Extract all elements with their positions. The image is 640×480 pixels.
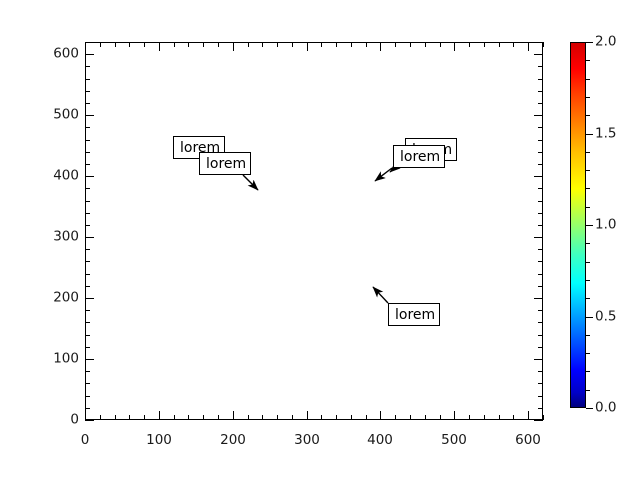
y-axis-tick (538, 383, 543, 384)
colorbar-minor-tick (586, 371, 590, 372)
colorbar-tick (586, 134, 593, 135)
x-axis-tick (159, 42, 160, 51)
y-axis-tick (85, 371, 90, 372)
y-axis-tick (538, 42, 543, 43)
y-axis-tick (85, 249, 90, 250)
y-axis-tick (85, 79, 90, 80)
y-axis-tick (538, 322, 543, 323)
x-axis-tick (188, 42, 189, 47)
x-axis-tick (366, 415, 367, 420)
y-axis-tick (85, 152, 90, 153)
colorbar-minor-tick (586, 79, 590, 80)
y-axis-tick (538, 408, 543, 409)
x-axis-tick (262, 415, 263, 420)
y-tick-label-0: 0 (37, 413, 79, 427)
x-axis-tick (233, 42, 234, 51)
y-axis-tick (85, 103, 90, 104)
x-axis-tick (528, 411, 529, 420)
y-axis-tick (85, 408, 90, 409)
y-axis-tick (538, 164, 543, 165)
x-axis-tick (115, 415, 116, 420)
x-axis-tick (203, 42, 204, 47)
y-axis-tick (538, 140, 543, 141)
x-axis-tick (174, 42, 175, 47)
y-axis-tick (538, 347, 543, 348)
x-tick-label-100: 100 (146, 434, 172, 448)
y-axis-tick (534, 298, 543, 299)
y-axis-tick (538, 261, 543, 262)
colorbar-tick (586, 317, 593, 318)
colorbar-tick-label-2.0: 2.0 (595, 35, 616, 49)
x-axis-tick (543, 415, 544, 420)
colorbar-tick-label-1.0: 1.0 (595, 218, 616, 232)
x-axis-tick (174, 415, 175, 420)
colorbar-minor-tick (586, 60, 590, 61)
y-axis-tick (538, 103, 543, 104)
y-axis-tick (85, 322, 90, 323)
y-axis-tick (85, 115, 94, 116)
y-axis-tick (85, 213, 90, 214)
colorbar-minor-tick (586, 243, 590, 244)
x-axis-tick (425, 415, 426, 420)
x-axis-tick (218, 415, 219, 420)
x-axis-tick (484, 42, 485, 47)
x-axis-tick (336, 42, 337, 47)
x-axis-tick (499, 415, 500, 420)
x-axis-tick (292, 415, 293, 420)
x-axis-tick (248, 42, 249, 47)
y-axis-tick (85, 310, 90, 311)
y-axis-tick (85, 347, 90, 348)
colorbar: 0.00.51.01.52.0 (570, 42, 586, 408)
x-axis-tick (395, 42, 396, 47)
colorbar-tick (586, 42, 593, 43)
x-axis-tick (307, 42, 308, 51)
x-axis-tick (321, 415, 322, 420)
x-axis-tick (351, 415, 352, 420)
y-axis-tick (85, 298, 94, 299)
colorbar-minor-tick (586, 188, 590, 189)
y-axis-tick (538, 79, 543, 80)
y-tick-label-100: 100 (37, 352, 79, 366)
x-tick-label-400: 400 (367, 434, 393, 448)
y-tick-label-200: 200 (37, 291, 79, 305)
y-tick-label-400: 400 (37, 169, 79, 183)
y-axis-tick (85, 164, 90, 165)
y-tick-label-600: 600 (37, 47, 79, 61)
y-axis-tick (538, 371, 543, 372)
y-axis-tick (534, 237, 543, 238)
x-axis-tick (144, 415, 145, 420)
y-axis-tick (538, 396, 543, 397)
x-axis-tick (528, 42, 529, 51)
x-axis-tick (454, 42, 455, 51)
x-tick-label-0: 0 (81, 434, 90, 448)
y-axis-tick (85, 237, 94, 238)
x-axis-tick (410, 42, 411, 47)
colorbar-minor-tick (586, 353, 590, 354)
annotation-label-left-front[interactable]: lorem (199, 152, 251, 175)
colorbar-minor-tick (586, 298, 590, 299)
colorbar-tick (586, 408, 593, 409)
y-axis-tick (85, 420, 94, 421)
y-axis-tick (85, 286, 90, 287)
colorbar-minor-tick (586, 335, 590, 336)
x-axis-tick (499, 42, 500, 47)
x-axis-tick (380, 411, 381, 420)
x-axis-tick (100, 415, 101, 420)
x-axis-tick (159, 411, 160, 420)
colorbar-minor-tick (586, 170, 590, 171)
y-tick-label-500: 500 (37, 108, 79, 122)
colorbar-tick (586, 225, 593, 226)
y-axis-tick (538, 127, 543, 128)
x-axis-tick (129, 42, 130, 47)
x-axis-tick (513, 415, 514, 420)
axes-frame (85, 42, 543, 420)
x-axis-tick (292, 42, 293, 47)
annotation-label-right-front[interactable]: lorem (393, 145, 445, 168)
y-axis-tick (538, 213, 543, 214)
y-axis-tick (85, 383, 90, 384)
colorbar-gradient (570, 42, 586, 408)
x-tick-label-500: 500 (441, 434, 467, 448)
x-axis-tick (440, 42, 441, 47)
y-axis-tick (538, 152, 543, 153)
y-axis-tick (538, 91, 543, 92)
y-axis-tick (538, 310, 543, 311)
colorbar-minor-tick (586, 97, 590, 98)
x-axis-tick (425, 42, 426, 47)
colorbar-minor-tick (586, 115, 590, 116)
y-axis-tick (534, 54, 543, 55)
x-axis-tick (262, 42, 263, 47)
x-axis-tick (218, 42, 219, 47)
y-axis-tick (538, 249, 543, 250)
y-axis-tick (85, 359, 94, 360)
y-axis-tick (85, 188, 90, 189)
x-axis-tick (129, 415, 130, 420)
y-axis-tick (534, 176, 543, 177)
x-axis-tick (85, 411, 86, 420)
x-axis-tick (277, 415, 278, 420)
colorbar-minor-tick (586, 152, 590, 153)
figure-canvas: 01002003004005006000100200300400500600 0… (0, 0, 640, 480)
colorbar-minor-tick (586, 262, 590, 263)
colorbar-tick-label-1.5: 1.5 (595, 127, 616, 141)
y-axis-tick (85, 140, 90, 141)
x-axis-tick (410, 415, 411, 420)
y-axis-tick (85, 66, 90, 67)
annotation-label-bottom[interactable]: lorem (388, 303, 440, 326)
x-axis-tick (307, 411, 308, 420)
x-axis-tick (144, 42, 145, 47)
colorbar-minor-tick (586, 280, 590, 281)
x-axis-tick (469, 42, 470, 47)
x-axis-tick (454, 411, 455, 420)
y-tick-label-300: 300 (37, 230, 79, 244)
colorbar-tick-label-0.5: 0.5 (595, 310, 616, 324)
y-axis-tick (85, 176, 94, 177)
y-axis-tick (538, 225, 543, 226)
x-axis-tick (321, 42, 322, 47)
y-axis-tick (85, 54, 94, 55)
y-axis-tick (538, 188, 543, 189)
x-axis-tick (100, 42, 101, 47)
y-axis-tick (534, 420, 543, 421)
y-axis-tick (538, 66, 543, 67)
y-axis-tick (85, 127, 90, 128)
x-axis-tick (248, 415, 249, 420)
y-axis-tick (538, 274, 543, 275)
y-axis-tick (85, 261, 90, 262)
x-axis-tick (366, 42, 367, 47)
y-axis-tick (85, 396, 90, 397)
y-axis-tick (85, 225, 90, 226)
colorbar-minor-tick (586, 207, 590, 208)
y-axis-tick (85, 335, 90, 336)
x-axis-tick (469, 415, 470, 420)
x-axis-tick (513, 42, 514, 47)
colorbar-minor-tick (586, 390, 590, 391)
x-axis-tick (395, 415, 396, 420)
y-axis-tick (85, 274, 90, 275)
y-axis-tick (534, 359, 543, 360)
y-axis-tick (538, 201, 543, 202)
x-axis-tick (85, 42, 86, 51)
colorbar-tick-label-0.0: 0.0 (595, 401, 616, 415)
x-axis-tick (351, 42, 352, 47)
x-tick-label-200: 200 (220, 434, 246, 448)
y-axis-tick (85, 42, 90, 43)
x-tick-label-300: 300 (294, 434, 320, 448)
x-axis-tick (277, 42, 278, 47)
x-axis-tick (440, 415, 441, 420)
y-axis-tick (85, 201, 90, 202)
x-axis-tick (233, 411, 234, 420)
x-axis-tick (336, 415, 337, 420)
y-axis-tick (534, 115, 543, 116)
x-axis-tick (380, 42, 381, 51)
y-axis-tick (85, 91, 90, 92)
x-axis-tick (543, 42, 544, 47)
x-axis-tick (188, 415, 189, 420)
x-axis-tick (203, 415, 204, 420)
y-axis-tick (538, 335, 543, 336)
y-axis-tick (538, 286, 543, 287)
x-axis-tick (484, 415, 485, 420)
x-tick-label-600: 600 (515, 434, 541, 448)
x-axis-tick (115, 42, 116, 47)
